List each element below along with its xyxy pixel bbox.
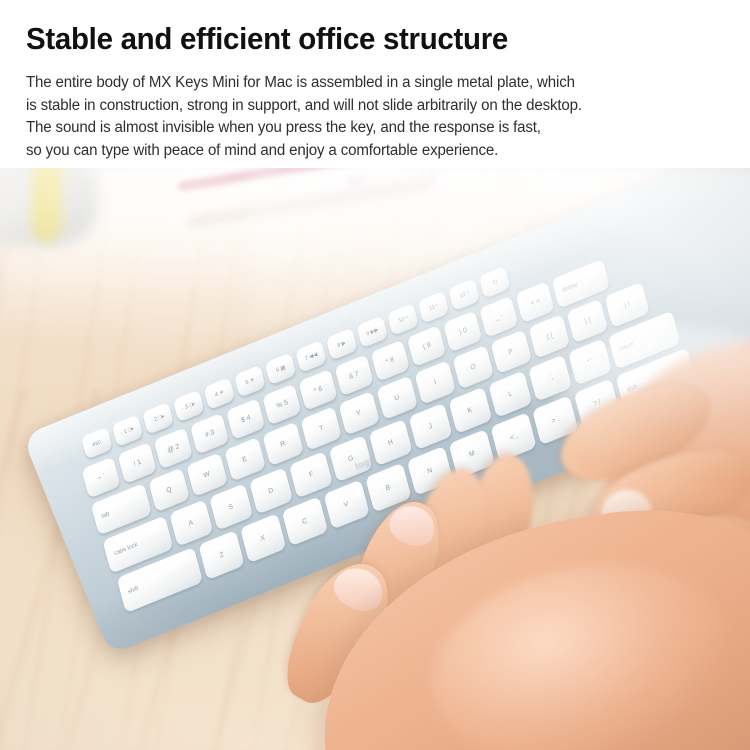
body-paragraph: The entire body of MX Keys Mini for Mac …	[26, 72, 736, 162]
body-line: The entire body of MX Keys Mini for Mac …	[26, 72, 725, 95]
body-line: is stable in construction, strong in sup…	[26, 95, 725, 118]
product-photo: esc· 1 □▸· 2 □▸· 3 □▸4 ☀5 ☀6 ▦7 ◀◀8 ▶9 ▶…	[0, 168, 750, 750]
body-line: so you can type with peace of mind and e…	[26, 140, 725, 163]
product-feature-slide: esc· 1 □▸· 2 □▸· 3 □▸4 ☀5 ☀6 ▦7 ◀◀8 ▶9 ▶…	[0, 0, 750, 750]
body-line: The sound is almost invisible when you p…	[26, 117, 725, 140]
page-title: Stable and efficient office structure	[26, 20, 508, 58]
hands-group	[0, 168, 750, 750]
